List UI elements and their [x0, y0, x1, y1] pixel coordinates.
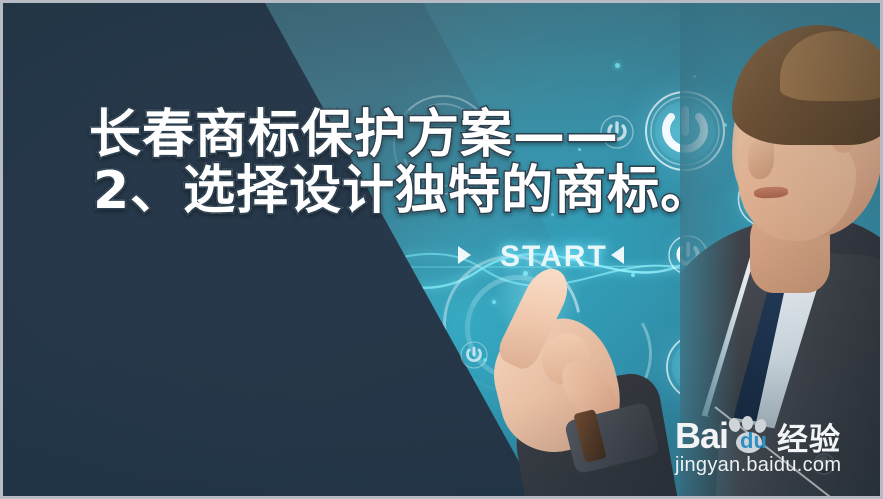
watermark-url: jingyan.baidu.com [675, 454, 841, 477]
watermark-bai-text: Bai [675, 415, 728, 457]
baidu-watermark: Bai du 经验 jingyan.baidu.com [675, 416, 841, 477]
page-title: 长春商标保护方案—— 2、选择设计独特的商标。 [89, 107, 729, 219]
title-line-2: 2、选择设计独特的商标。 [93, 163, 729, 219]
watermark-jingyan-text: 经验 [777, 414, 841, 459]
title-line-1: 长春商标保护方案—— [89, 107, 729, 163]
baidu-paw-icon: du [726, 416, 772, 456]
watermark-du-text: du [740, 428, 767, 454]
presentation-slide: START 长春商标保护方案—— 2、选择设计独特的商标。 [0, 0, 883, 499]
